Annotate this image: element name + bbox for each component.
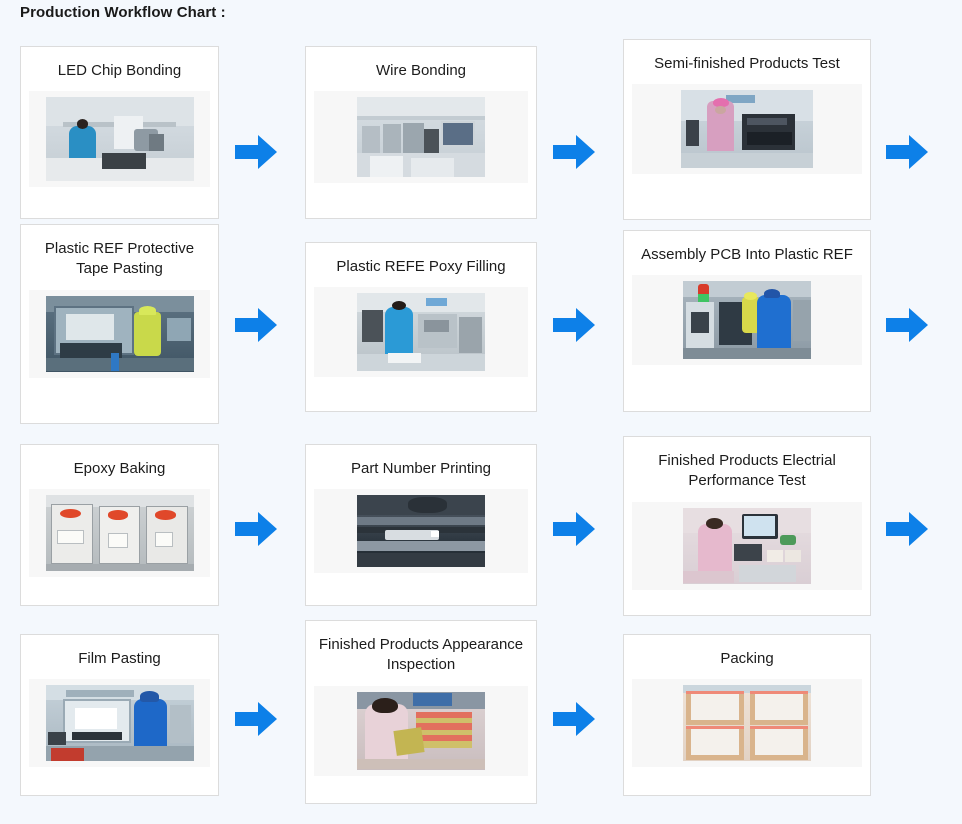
workflow-step-label: Finished Products Appearance Inspection bbox=[306, 621, 536, 686]
workflow-arrow-icon bbox=[551, 132, 597, 172]
workflow-step-photo-band bbox=[29, 679, 210, 767]
packing-photo bbox=[683, 685, 811, 761]
workflow-step-label: Plastic REFE Poxy Filling bbox=[306, 243, 536, 287]
workflow-step-card[interactable]: LED Chip Bonding bbox=[20, 46, 219, 219]
workflow-step-card[interactable]: Wire Bonding bbox=[305, 46, 537, 219]
workflow-step-photo-band bbox=[632, 275, 862, 365]
workflow-step-label: Plastic REF Protective Tape Pasting bbox=[21, 225, 218, 290]
workflow-step-photo-band bbox=[632, 679, 862, 767]
workflow-step-photo-band bbox=[314, 91, 528, 183]
finished-products-electrial-performance-test-photo bbox=[683, 508, 811, 584]
workflow-arrow-icon bbox=[551, 509, 597, 549]
workflow-arrow-icon bbox=[233, 132, 279, 172]
workflow-step-photo-band bbox=[29, 290, 210, 378]
assembly-pcb-into-plastic-ref-photo bbox=[683, 281, 811, 359]
plastic-ref-protective-tape-pasting-photo bbox=[46, 296, 194, 372]
workflow-row: LED Chip Bonding bbox=[0, 34, 962, 220]
workflow-step-label: Part Number Printing bbox=[306, 445, 536, 489]
workflow-step-label: Epoxy Baking bbox=[21, 445, 218, 489]
workflow-row: Epoxy Baking bbox=[0, 426, 962, 616]
workflow-arrow-icon bbox=[884, 132, 930, 172]
workflow-step-label: Semi-finished Products Test bbox=[624, 40, 870, 84]
workflow-step-card[interactable]: Semi-finished Products Test bbox=[623, 39, 871, 220]
workflow-step-label: Finished Products Electrial Performance … bbox=[624, 437, 870, 502]
workflow-arrow-icon bbox=[233, 509, 279, 549]
workflow-step-photo-band bbox=[314, 686, 528, 776]
workflow-step-card[interactable]: Plastic REF Protective Tape Pasting bbox=[20, 224, 219, 424]
workflow-step-photo-band bbox=[314, 287, 528, 377]
workflow-step-label: Packing bbox=[624, 635, 870, 679]
epoxy-baking-photo bbox=[46, 495, 194, 571]
workflow-step-card[interactable]: Packing bbox=[623, 634, 871, 796]
plastic-refe-poxy-filling-photo bbox=[357, 293, 485, 371]
workflow-arrow-icon bbox=[551, 699, 597, 739]
workflow-arrow-icon bbox=[233, 699, 279, 739]
wire-bonding-photo bbox=[357, 97, 485, 177]
workflow-step-card[interactable]: Assembly PCB Into Plastic REF bbox=[623, 230, 871, 412]
workflow-arrow-icon bbox=[884, 305, 930, 345]
workflow-arrow-icon bbox=[233, 305, 279, 345]
workflow-step-photo-band bbox=[29, 489, 210, 577]
workflow-step-card[interactable]: Finished Products Electrial Performance … bbox=[623, 436, 871, 616]
part-number-printing-photo bbox=[357, 495, 485, 567]
workflow-step-photo-band bbox=[29, 91, 210, 187]
workflow-step-card[interactable]: Epoxy Baking bbox=[20, 444, 219, 606]
workflow-step-label: Film Pasting bbox=[21, 635, 218, 679]
finished-products-appearance-inspection-photo bbox=[357, 692, 485, 770]
workflow-step-photo-band bbox=[314, 489, 528, 573]
workflow-step-photo-band bbox=[632, 502, 862, 590]
workflow-row: Film Pasting bbox=[0, 616, 962, 804]
workflow-step-label: Assembly PCB Into Plastic REF bbox=[624, 231, 870, 275]
workflow-step-photo-band bbox=[632, 84, 862, 174]
page-title: Production Workflow Chart : bbox=[20, 4, 226, 21]
semi-finished-products-test-photo bbox=[681, 90, 813, 168]
workflow-step-card[interactable]: Film Pasting bbox=[20, 634, 219, 796]
led-chip-bonding-photo bbox=[46, 97, 194, 181]
workflow-arrow-icon bbox=[551, 305, 597, 345]
workflow-step-card[interactable]: Finished Products Appearance Inspection bbox=[305, 620, 537, 804]
workflow-step-card[interactable]: Part Number Printing bbox=[305, 444, 537, 606]
workflow-step-label: Wire Bonding bbox=[306, 47, 536, 91]
workflow-arrow-icon bbox=[884, 509, 930, 549]
workflow-grid: LED Chip Bonding bbox=[0, 34, 962, 804]
workflow-row: Plastic REF Protective Tape Pasting bbox=[0, 220, 962, 426]
film-pasting-photo bbox=[46, 685, 194, 761]
workflow-step-label: LED Chip Bonding bbox=[21, 47, 218, 91]
workflow-step-card[interactable]: Plastic REFE Poxy Filling bbox=[305, 242, 537, 412]
